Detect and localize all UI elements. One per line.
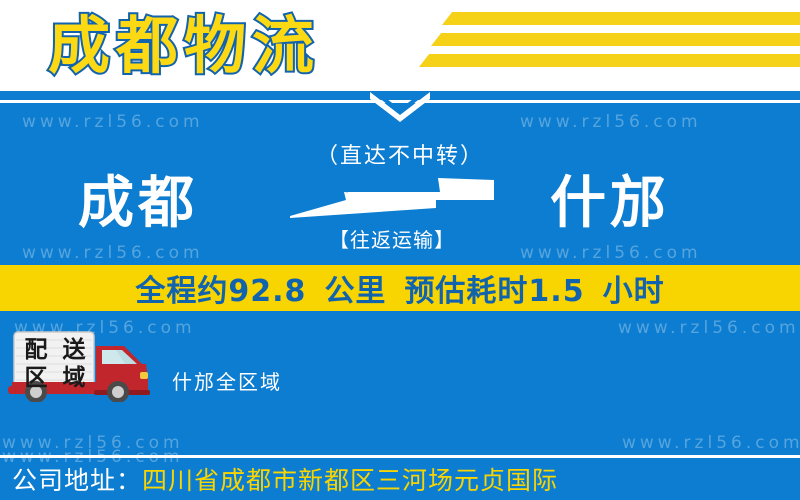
destination-city: 什邡 [550, 168, 670, 240]
footer-bar: 公司地址： 四川省成都市新都区三河场元贞国际 [0, 458, 800, 500]
chevron-down-icon [368, 92, 432, 128]
origin-city: 成都 [78, 168, 198, 240]
route-info-band: 全程约92.8 公里 预估耗时1.5 小时 [0, 265, 800, 311]
truck-box-char-0: 配 [25, 339, 48, 362]
stripe-2 [431, 33, 800, 46]
distance-value: 全程约92.8 [135, 266, 306, 310]
truck-box-label: 配 送 区 域 [17, 336, 93, 392]
address-label: 公司地址： [12, 461, 142, 497]
watermark: www.rzl56.com [622, 433, 800, 453]
duration-value: 预估耗时1.5 [404, 266, 584, 310]
watermark: www.rzl56.com [22, 243, 204, 263]
logistics-poster: 成都物流 www.rzl56.com www.rzl56.com www.rzl… [0, 0, 800, 500]
stripe-1 [442, 12, 800, 25]
page-title: 成都物流 [48, 3, 320, 88]
header-band: 成都物流 [0, 0, 800, 91]
distance-unit: 公里 [324, 266, 386, 310]
duration-unit: 小时 [603, 266, 665, 310]
truck-box-char-2: 区 [25, 367, 48, 390]
watermark: www.rzl56.com [520, 112, 702, 132]
direct-shipping-tag: （直达不中转） [0, 138, 800, 170]
delivery-area-text: 什邡全区域 [172, 366, 282, 395]
watermark: www.rzl56.com [2, 433, 184, 453]
decorative-stripes [410, 12, 800, 74]
stripe-3 [419, 54, 800, 67]
truck-box-char-1: 送 [63, 339, 86, 362]
truck-box-char-3: 域 [63, 367, 86, 390]
address-value: 四川省成都市新都区三河场元贞国际 [142, 461, 558, 497]
roundtrip-tag: 【往返运输】 [288, 224, 496, 253]
watermark: www.rzl56.com [618, 318, 800, 338]
watermark: www.rzl56.com [520, 243, 702, 263]
bidirectional-arrow-icon [288, 178, 496, 220]
watermark: www.rzl56.com [22, 112, 204, 132]
